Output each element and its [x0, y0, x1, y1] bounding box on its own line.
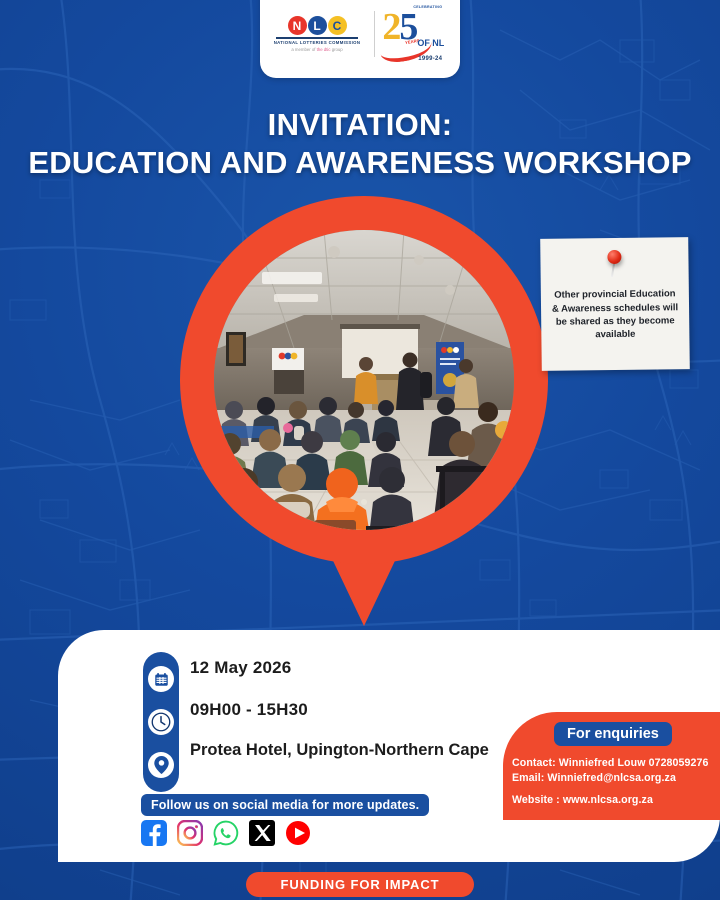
workshop-photo	[214, 230, 514, 530]
poster-root: N L C NATIONAL LOTTERIES COMMISSION a me…	[0, 0, 720, 900]
event-date: 12 May 2026	[190, 658, 520, 678]
logo-separator	[374, 11, 375, 57]
sticky-note-text: Other provincial Education & Awareness s…	[541, 265, 690, 343]
nlc-letter-c: C	[328, 16, 347, 35]
anniversary-logo: CELEBRATING 25 YEARS OF NL 1999-24	[382, 5, 446, 63]
sticky-note: Other provincial Education & Awareness s…	[540, 237, 690, 371]
logo-card: N L C NATIONAL LOTTERIES COMMISSION a me…	[260, 0, 460, 78]
push-pin-icon	[607, 250, 621, 264]
facebook-icon[interactable]	[140, 819, 167, 846]
event-location: Protea Hotel, Upington-Northern Cape	[190, 740, 520, 761]
anniversary-range: 1999-24	[418, 56, 442, 62]
enquiries-badge: For enquiries	[554, 722, 672, 746]
enquiries-contact[interactable]: Contact: Winniefred Louw 0728059276	[512, 756, 720, 771]
x-twitter-icon[interactable]	[248, 819, 275, 846]
enquiries-website[interactable]: Website : www.nlcsa.org.za	[512, 793, 720, 808]
youtube-icon[interactable]	[284, 819, 311, 846]
footer-tagline: FUNDING FOR IMPACT	[246, 872, 474, 897]
nlc-letter-bubbles: N L C	[288, 16, 347, 35]
enquiries-details: Contact: Winniefred Louw 0728059276 Emai…	[512, 756, 720, 808]
instagram-icon[interactable]	[176, 819, 203, 846]
enquiries-email[interactable]: Email: Winniefred@nlcsa.org.za	[512, 771, 720, 786]
detail-icons-pill	[143, 652, 179, 792]
nlc-tagline-pre: a member of	[291, 47, 316, 52]
nlc-divider-bar	[276, 37, 358, 39]
social-icons-row	[140, 819, 311, 846]
whatsapp-icon[interactable]	[212, 819, 239, 846]
nlc-letter-l: L	[308, 16, 327, 35]
nlc-letter-n: N	[288, 16, 307, 35]
page-title: INVITATION: EDUCATION AND AWARENESS WORK…	[0, 108, 720, 180]
anniversary-of-nl: OF NL	[417, 38, 444, 48]
nlc-tagline-brand: the dtic	[317, 47, 331, 52]
nlc-logo: N L C NATIONAL LOTTERIES COMMISSION a me…	[274, 16, 368, 52]
event-time: 09H00 - 15H30	[190, 700, 520, 720]
anniversary-celebrating: CELEBRATING	[413, 5, 442, 9]
nlc-full-name: NATIONAL LOTTERIES COMMISSION	[274, 40, 361, 45]
photo-pin-frame	[180, 196, 548, 648]
location-pin-icon	[148, 752, 174, 778]
title-line-2: EDUCATION AND AWARENESS WORKSHOP	[0, 146, 720, 181]
clock-icon	[148, 709, 174, 735]
title-line-1: INVITATION:	[0, 108, 720, 143]
follow-us-label: Follow us on social media for more updat…	[141, 794, 429, 816]
nlc-tagline-post: group	[331, 47, 343, 52]
calendar-icon	[148, 666, 174, 692]
event-details: 12 May 2026 09H00 - 15H30 Protea Hotel, …	[190, 658, 520, 761]
nlc-tagline: a member of the dtic group	[291, 47, 342, 52]
